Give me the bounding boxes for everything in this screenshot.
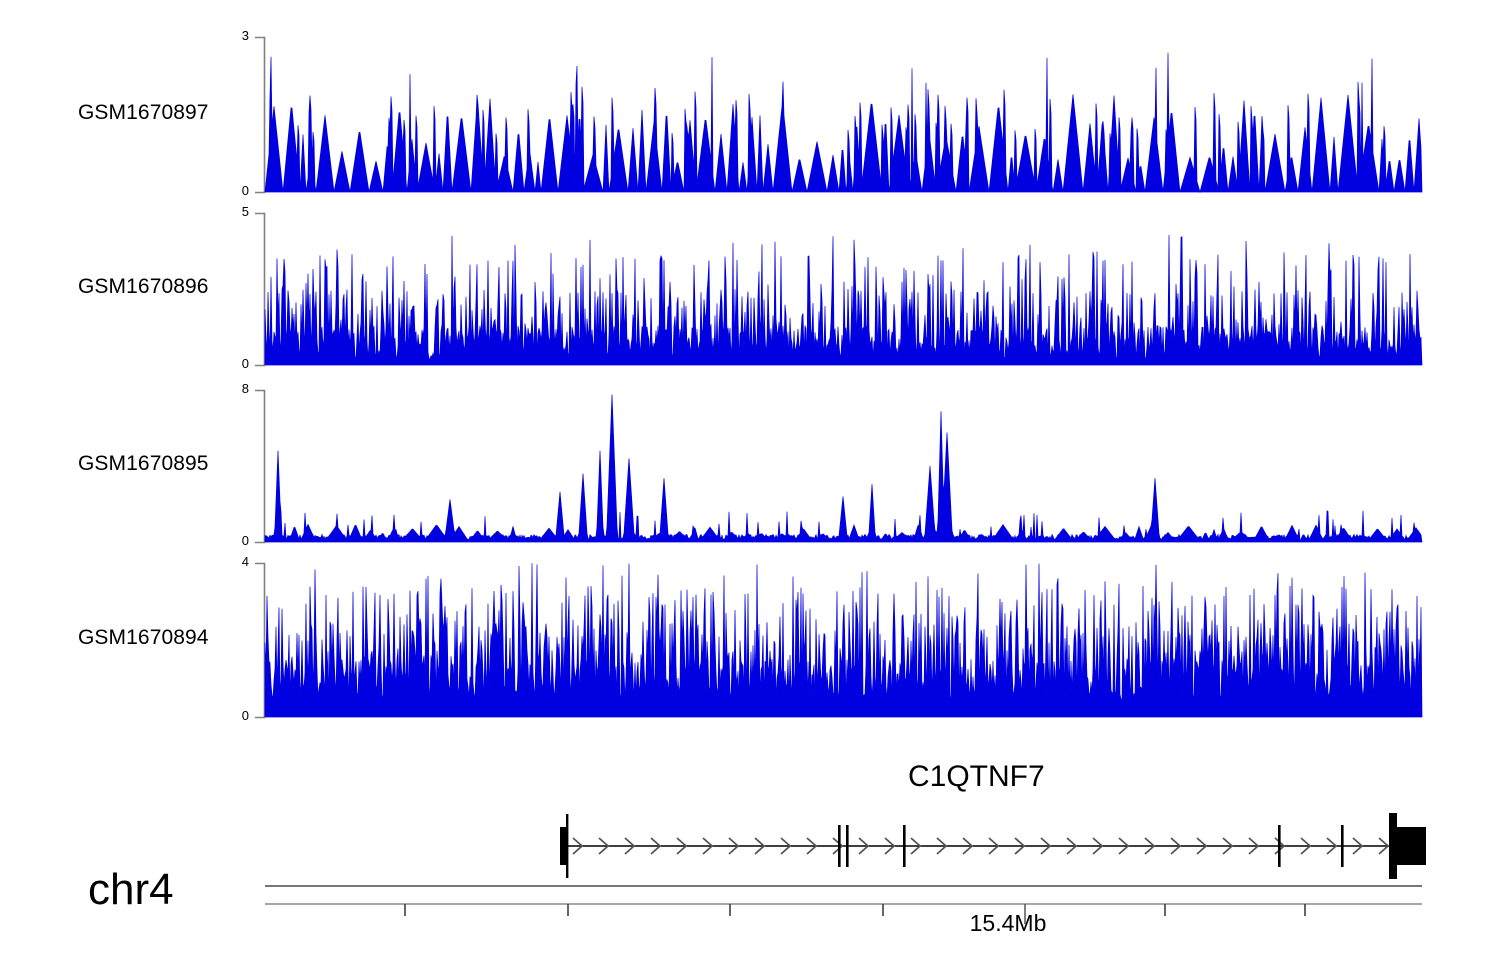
exon-block: [1341, 825, 1344, 867]
exon-block: [846, 825, 849, 867]
y-axis-max-label: 4: [219, 554, 249, 569]
coverage-area: [265, 53, 1422, 192]
y-axis-line: [255, 38, 265, 193]
coverage-area: [265, 395, 1422, 542]
exon-block: [1278, 825, 1281, 867]
coverage-area: [265, 563, 1422, 717]
genome-browser-view: GSM167089730 GSM167089650 GSM167089580 G…: [0, 0, 1500, 980]
track-label-GSM1670896: GSM1670896: [78, 275, 209, 299]
gene-name-label: C1QTNF7: [908, 760, 1045, 794]
gene-annotation-panel: C1QTNF7: [0, 760, 1500, 880]
y-axis-line: [255, 214, 265, 366]
coverage-area: [265, 235, 1422, 365]
exon-block: [560, 827, 567, 865]
y-axis-max-label: 8: [219, 381, 249, 396]
exon-block: [838, 825, 841, 867]
chromosome-axis-panel: chr4 15.4Mb: [0, 865, 1500, 980]
y-axis-max-label: 5: [219, 204, 249, 219]
genomic-axis: [0, 880, 1500, 940]
exon-block: [1396, 827, 1426, 865]
y-axis-min-label: 0: [219, 183, 249, 198]
y-axis-line: [255, 391, 265, 543]
y-axis-min-label: 0: [219, 708, 249, 723]
y-axis-min-label: 0: [219, 356, 249, 371]
coordinate-tick-label: 15.4Mb: [970, 910, 1047, 937]
track-label-GSM1670895: GSM1670895: [78, 452, 209, 476]
track-label-GSM1670894: GSM1670894: [78, 626, 209, 650]
y-axis-min-label: 0: [219, 533, 249, 548]
exon-block: [903, 825, 906, 867]
y-axis-line: [255, 564, 265, 718]
track-label-GSM1670897: GSM1670897: [78, 101, 209, 125]
y-axis-max-label: 3: [219, 28, 249, 43]
